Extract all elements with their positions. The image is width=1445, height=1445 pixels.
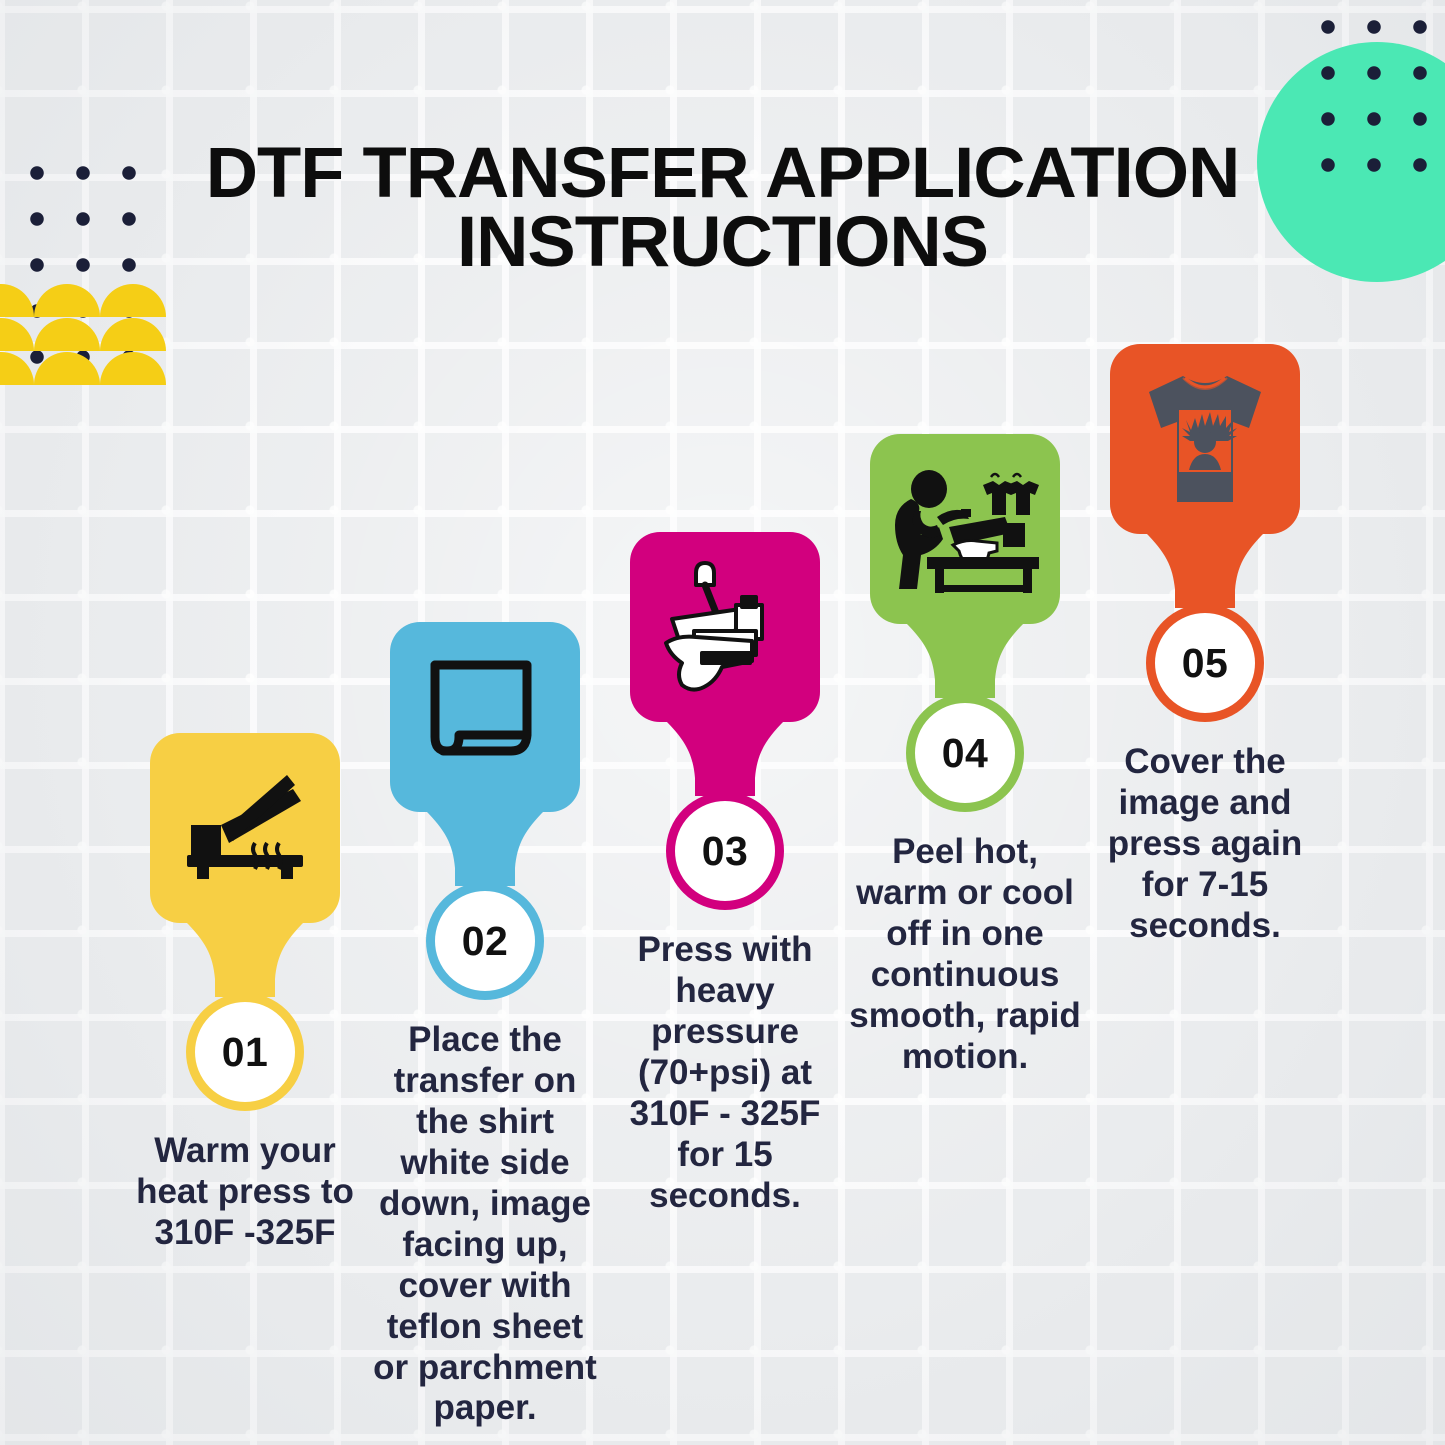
step-number-badge-05: 05 [1146,604,1264,722]
step-caption-02: Place the transfer on the shirt white si… [365,1020,605,1429]
step-number-05: 05 [1182,640,1229,687]
step-card-01 [150,733,340,923]
printed-tshirt-icon [1131,368,1279,510]
step-card-03 [630,532,820,722]
title-line-2: INSTRUCTIONS [0,209,1445,278]
step-number-04: 04 [942,730,989,777]
step-caption-01: Warm your heat press to 310F -325F [125,1131,365,1254]
heat-press-machine-icon [650,557,800,697]
heat-press-open-icon [181,773,309,883]
step-number-02: 02 [462,918,509,965]
step-caption-03: Press with heavy pressure (70+psi) at 31… [605,930,845,1217]
infographic-canvas: DTF TRANSFER APPLICATION INSTRUCTIONS [0,0,1445,1445]
page-title: DTF TRANSFER APPLICATION INSTRUCTIONS [0,140,1445,278]
step-connector-02 [365,810,605,886]
step-item-01[interactable]: 01 Warm your heat press to 310F -325F [125,733,365,1254]
step-caption-05: Cover the image and press again for 7-15… [1085,742,1325,947]
step-item-03[interactable]: 03 Press with heavy pressure (70+psi) at… [605,532,845,1217]
step-item-02[interactable]: 02 Place the transfer on the shirt white… [365,622,605,1429]
step-connector-01 [125,921,365,997]
step-connector-04 [845,622,1085,698]
step-card-02 [390,622,580,812]
step-number-03: 03 [702,828,749,875]
step-number-badge-01: 01 [186,993,304,1111]
step-item-05[interactable]: 05 Cover the image and press again for 7… [1085,344,1325,947]
transfer-sheet-icon [423,657,547,777]
step-connector-03 [605,720,845,796]
step-number-01: 01 [222,1029,269,1076]
step-item-04[interactable]: 04 Peel hot, warm or cool off in one con… [845,434,1085,1078]
step-caption-04: Peel hot, warm or cool off in one contin… [845,832,1085,1078]
step-number-badge-02: 02 [426,882,544,1000]
step-number-badge-04: 04 [906,694,1024,812]
title-line-1: DTF TRANSFER APPLICATION [0,140,1445,209]
person-peeling-transfer-icon [887,465,1043,593]
step-number-badge-03: 03 [666,792,784,910]
step-card-05 [1110,344,1300,534]
step-card-04 [870,434,1060,624]
step-connector-05 [1085,532,1325,608]
